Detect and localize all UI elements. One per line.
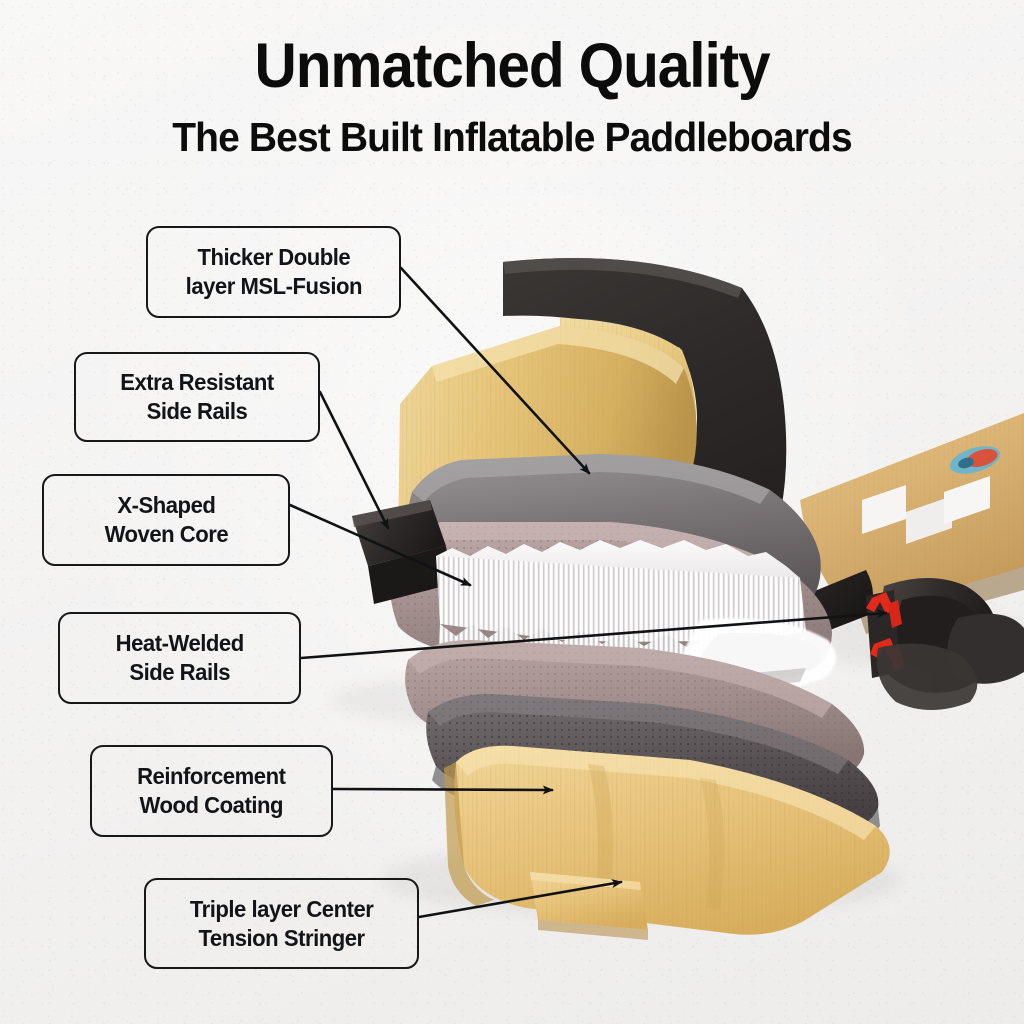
callout-label: X-Shaped Woven Core [104, 491, 228, 548]
callout-label: Triple layer Center Tension Stringer [190, 895, 374, 952]
callout-reinforcement-wood-coating[interactable]: Reinforcement Wood Coating [90, 745, 333, 837]
callout-extra-resistant-side-rails[interactable]: Extra Resistant Side Rails [74, 352, 320, 442]
callout-x-shaped-woven-core[interactable]: X-Shaped Woven Core [42, 474, 290, 566]
callout-triple-layer-center-tension-stringer[interactable]: Triple layer Center Tension Stringer [144, 878, 419, 969]
heading-block: Unmatched Quality The Best Built Inflata… [0, 34, 1024, 159]
callout-label: Reinforcement Wood Coating [137, 762, 285, 819]
callout-thicker-double-layer[interactable]: Thicker Double layer MSL-Fusion [146, 226, 401, 318]
infographic-canvas: Unmatched Quality The Best Built Inflata… [0, 0, 1024, 1024]
center-tension-stringer [530, 872, 648, 940]
callout-label: Thicker Double layer MSL-Fusion [185, 243, 361, 300]
callout-label: Extra Resistant Side Rails [120, 368, 274, 425]
callout-heat-welded-side-rails[interactable]: Heat-Welded Side Rails [58, 612, 301, 704]
page-title: Unmatched Quality [36, 34, 988, 100]
page-subtitle: The Best Built Inflatable Paddleboards [26, 116, 999, 159]
callout-label: Heat-Welded Side Rails [115, 629, 243, 686]
